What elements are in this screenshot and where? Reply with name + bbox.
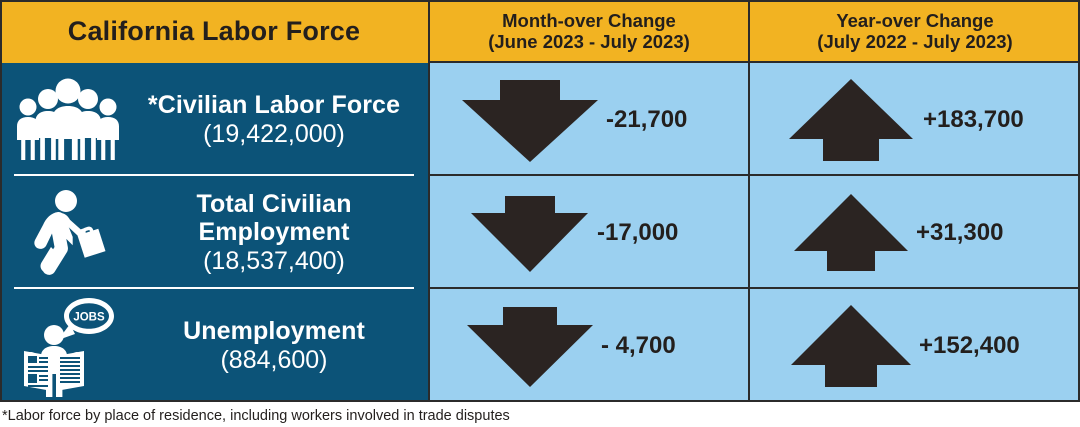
month-change-cell-unemployment: - 4,700: [428, 289, 748, 402]
row-label-text-civilian-labor-force: *Civilian Labor Force (19,422,000): [128, 91, 428, 148]
row-label-cell-civilian-labor-force: *Civilian Labor Force (19,422,000): [0, 63, 428, 176]
month-change-value: -21,700: [606, 106, 718, 134]
row-name: *Civilian Labor Force: [128, 91, 420, 120]
row-label-cell-unemployment: JOBS: [0, 289, 428, 402]
bottom-border: [0, 400, 1080, 402]
arrow-down-icon: [460, 76, 600, 164]
row-label-text-unemployment: Unemployment (884,600): [128, 317, 428, 374]
row-label-cell-total-civilian-employment: Total Civilian Employment (18,537,400): [0, 176, 428, 289]
table-row: *Civilian Labor Force (19,422,000) -21,7…: [0, 63, 1080, 176]
footnote: *Labor force by place of residence, incl…: [0, 404, 1080, 427]
person-reading-newspaper-jobs-icon: JOBS: [8, 296, 128, 396]
header-main-title-cell: California Labor Force: [0, 0, 428, 63]
row-value: (19,422,000): [128, 120, 420, 149]
year-change-cell-total-civilian-employment: +31,300: [748, 176, 1080, 289]
row-name: Unemployment: [128, 317, 420, 346]
arrow-down-icon: [465, 303, 595, 389]
month-change-cell-civilian-labor-force: -21,700: [428, 63, 748, 176]
month-change-value: - 4,700: [601, 332, 713, 360]
header-month-line1: Month-over Change: [502, 11, 676, 32]
jobs-bubble-label: JOBS: [73, 311, 105, 323]
table-row: Total Civilian Employment (18,537,400) -…: [0, 176, 1080, 289]
arrow-up-icon: [785, 77, 917, 163]
header-row: California Labor Force Month-over Change…: [0, 0, 1080, 63]
year-change-value: +152,400: [919, 332, 1041, 360]
top-border: [0, 0, 1080, 2]
row-label-text-total-civilian-employment: Total Civilian Employment (18,537,400): [128, 190, 428, 276]
year-change-cell-unemployment: +152,400: [748, 289, 1080, 402]
header-divider: [428, 61, 1080, 63]
arrow-up-icon: [792, 192, 910, 274]
row-value: (884,600): [128, 346, 420, 375]
month-change-value: -17,000: [597, 219, 709, 247]
left-border: [0, 0, 2, 402]
arrow-up-icon: [789, 303, 913, 389]
data-rows-container: *Civilian Labor Force (19,422,000) -21,7…: [0, 63, 1080, 402]
row-name: Total Civilian Employment: [128, 190, 420, 247]
group-of-people-icon: [8, 70, 128, 170]
page-title: California Labor Force: [68, 16, 360, 46]
row-value: (18,537,400): [128, 247, 420, 276]
header-year-over-change-cell: Year-over Change (July 2022 - July 2023): [748, 0, 1080, 63]
month-change-cell-total-civilian-employment: -17,000: [428, 176, 748, 289]
header-month-line2: (June 2023 - July 2023): [488, 32, 690, 53]
header-month-over-change-cell: Month-over Change (June 2023 - July 2023…: [428, 0, 748, 63]
year-change-value: +183,700: [923, 106, 1045, 134]
year-change-value: +31,300: [916, 219, 1038, 247]
year-change-cell-civilian-labor-force: +183,700: [748, 63, 1080, 176]
table-row: JOBS: [0, 289, 1080, 402]
walking-person-with-briefcase-icon: [8, 183, 128, 283]
header-year-line2: (July 2022 - July 2023): [817, 32, 1012, 53]
california-labor-force-infographic: California Labor Force Month-over Change…: [0, 0, 1080, 427]
header-year-line1: Year-over Change: [836, 11, 993, 32]
arrow-down-icon: [469, 192, 591, 274]
